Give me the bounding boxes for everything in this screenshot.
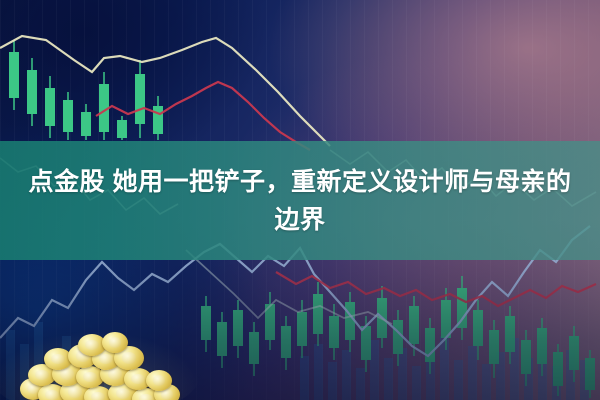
headline-line-2: 边界 xyxy=(274,201,325,239)
headline-text-block: 点金股 她用一把铲子，重新定义设计师与母亲的 边界 xyxy=(0,141,600,260)
gold-coin-pile xyxy=(14,334,186,400)
headline-line-1: 点金股 她用一把铲子，重新定义设计师与母亲的 xyxy=(29,163,572,201)
coin xyxy=(102,332,128,353)
thumbnail-image: 点金股 她用一把铲子，重新定义设计师与母亲的 边界 xyxy=(0,0,600,400)
coin xyxy=(146,370,172,391)
